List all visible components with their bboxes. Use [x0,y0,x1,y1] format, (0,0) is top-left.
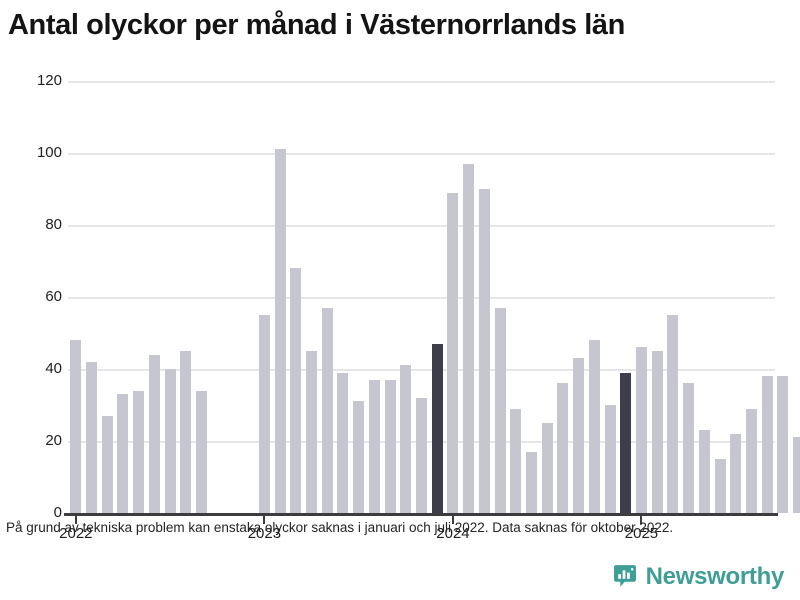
bar[interactable] [557,383,568,513]
bar[interactable] [762,376,773,513]
chart-page: Antal olyckor per månad i Västernorrland… [0,0,800,600]
bar[interactable] [322,308,333,513]
bar-chart-bubble-icon [612,564,638,590]
bar[interactable] [133,391,144,513]
bar-chart: 020406080100120 30 2022202320242025 [0,68,800,488]
bar[interactable] [667,315,678,513]
y-axis-tick-label: 40 [16,360,62,377]
bar[interactable] [715,459,726,513]
bar[interactable] [306,351,317,513]
bar[interactable] [259,315,270,513]
bar[interactable] [636,347,647,513]
bar[interactable] [605,405,616,513]
bar[interactable] [275,149,286,513]
logo-text: Newsworthy [646,564,784,590]
bar[interactable] [683,383,694,513]
bar[interactable] [589,340,600,513]
y-axis-tick-label: 20 [16,432,62,449]
y-axis-tick-label: 100 [16,144,62,161]
bar[interactable] [495,308,506,513]
bar[interactable] [793,437,800,513]
bar[interactable] [416,398,427,513]
bar[interactable] [447,193,458,513]
page-title: Antal olyckor per månad i Västernorrland… [8,6,792,44]
bar[interactable] [699,430,710,513]
bar[interactable] [746,409,757,513]
bar[interactable] [620,373,631,513]
bar[interactable] [102,416,113,513]
bar[interactable] [180,351,191,513]
bar[interactable] [385,380,396,513]
bar[interactable] [117,394,128,513]
bar[interactable] [149,355,160,513]
bar[interactable] [526,452,537,513]
bar[interactable] [70,340,81,513]
bar[interactable] [479,189,490,513]
bar[interactable] [542,423,553,513]
bar[interactable] [432,344,443,513]
bar[interactable] [400,365,411,513]
newsworthy-logo[interactable]: Newsworthy [612,564,784,590]
y-axis-labels: 020406080100120 [0,68,62,488]
bar[interactable] [573,358,584,513]
bar[interactable] [337,373,348,513]
bar[interactable] [165,369,176,513]
bar[interactable] [730,434,741,513]
bar[interactable] [290,268,301,513]
bar[interactable] [369,380,380,513]
bar[interactable] [652,351,663,513]
bar[interactable] [777,376,788,513]
bar[interactable] [510,409,521,513]
bar[interactable] [196,391,207,513]
bar[interactable] [353,401,364,513]
y-axis-tick-label: 120 [16,72,62,89]
y-axis-tick-label: 80 [16,216,62,233]
y-axis-tick-label: 60 [16,288,62,305]
bar[interactable] [86,362,97,513]
chart-footnote: På grund av tekniska problem kan enstaka… [6,518,776,538]
bar[interactable] [463,164,474,513]
bar-series: 30 [68,68,778,513]
